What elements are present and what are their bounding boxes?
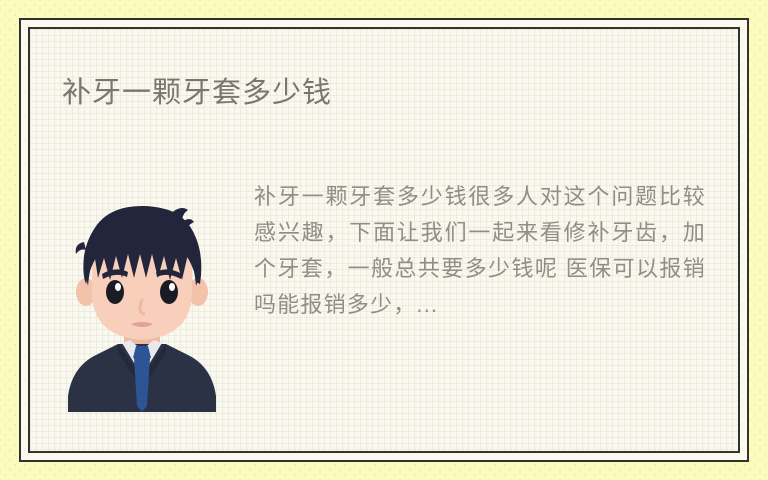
page-background: 补牙一颗牙套多少钱 [0,0,768,480]
avatar-illustration [58,200,226,412]
card-inner-frame: 补牙一颗牙套多少钱 [28,27,740,453]
card-outer-frame: 补牙一颗牙套多少钱 [19,18,749,462]
avatar [58,200,226,412]
page-title: 补牙一颗牙套多少钱 [62,75,332,111]
article-excerpt: 补牙一颗牙套多少钱很多人对这个问题比较感兴趣，下面让我们一起来看修补牙齿，加个牙… [254,179,706,323]
